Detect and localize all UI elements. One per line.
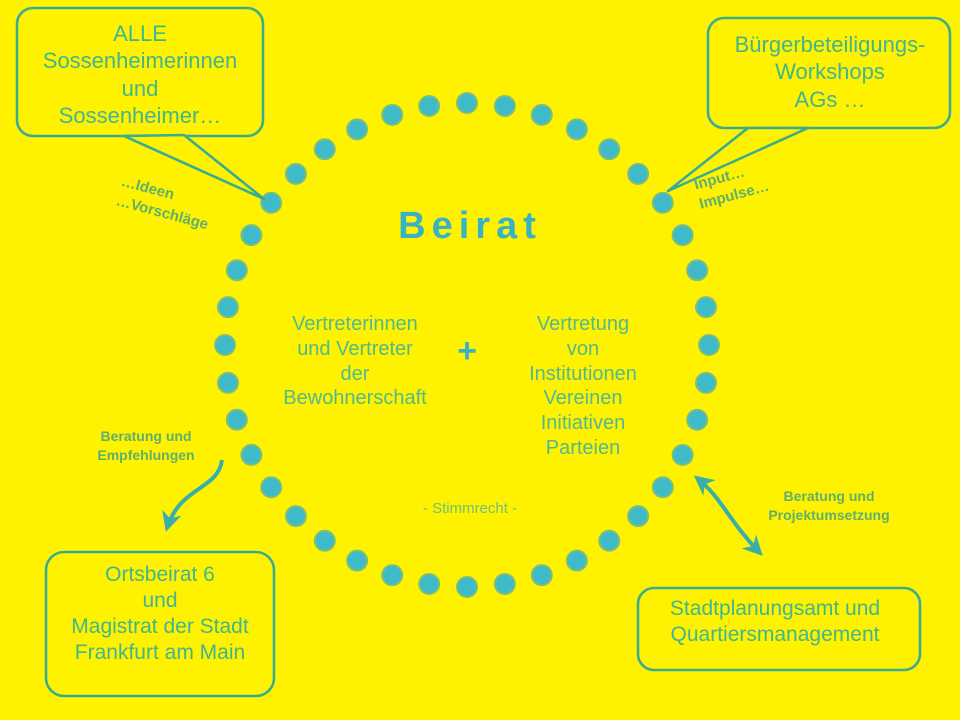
box-stadtplanung-label: Stadtplanungsamt und Quartiersmanagement	[646, 596, 904, 648]
circle-dot	[218, 373, 238, 393]
circle-dot	[457, 93, 477, 113]
circle-dot	[653, 193, 673, 213]
circle-dot	[457, 577, 477, 597]
circle-dot	[241, 225, 261, 245]
circle-dot	[599, 139, 619, 159]
circle-dot	[227, 260, 247, 280]
circle-dot	[653, 477, 673, 497]
circle-dot	[261, 193, 281, 213]
arrow-label-beratung-empfehlungen: Beratung und Empfehlungen	[76, 427, 216, 465]
circle-dot	[495, 96, 515, 116]
circle-dot	[261, 477, 281, 497]
circle-dot	[687, 410, 707, 430]
annotation-input-impulse: Input… Impulse…	[692, 157, 772, 215]
circle-dot	[315, 531, 335, 551]
circle-dot	[347, 551, 367, 571]
circle-dot	[628, 506, 648, 526]
circle-dot	[567, 551, 587, 571]
circle-dot	[567, 119, 587, 139]
diagram-canvas: ALLE Sossenheimerinnen und Sossenheimer……	[0, 0, 960, 720]
circle-dot	[286, 164, 306, 184]
circle-dot	[315, 139, 335, 159]
speech-bubble-workshops-label: Bürgerbeteiligungs- Workshops AGs …	[712, 31, 948, 113]
circle-dot	[347, 119, 367, 139]
annotation-ideen-vorschlaege: …Ideen …Vorschläge	[114, 172, 216, 236]
circle-dot	[227, 410, 247, 430]
circle-dot	[215, 335, 235, 355]
circle-dot	[286, 506, 306, 526]
circle-dot	[218, 297, 238, 317]
box-ortsbeirat-label: Ortsbeirat 6 und Magistrat der Stadt Fra…	[52, 562, 268, 666]
circle-dot	[696, 297, 716, 317]
circle-dot	[241, 445, 261, 465]
circle-dot	[419, 574, 439, 594]
circle-dot	[382, 565, 402, 585]
circle-dot	[532, 105, 552, 125]
circle-dot	[532, 565, 552, 585]
circle-dot	[699, 335, 719, 355]
members-residents-label: Vertreterinnen und Vertreter der Bewohne…	[262, 312, 448, 411]
circle-dot	[495, 574, 515, 594]
circle-dot	[382, 105, 402, 125]
arrow-beratung-empfehlungen	[167, 460, 222, 528]
plus-icon: +	[447, 330, 487, 372]
circle-dot	[687, 260, 707, 280]
arrow-label-beratung-projektumsetzung: Beratung und Projektumsetzung	[748, 487, 910, 525]
members-institutions-label: Vertretung von Institutionen Vereinen In…	[490, 312, 676, 461]
circle-dot	[696, 373, 716, 393]
circle-dot	[599, 531, 619, 551]
circle-dot	[419, 96, 439, 116]
circle-dot	[628, 164, 648, 184]
page-title: Beirat	[330, 203, 610, 250]
circle-dot	[673, 225, 693, 245]
voting-rights-note: - Stimmrecht -	[382, 500, 558, 519]
speech-bubble-citizens-label: ALLE Sossenheimerinnen und Sossenheimer…	[22, 20, 258, 129]
